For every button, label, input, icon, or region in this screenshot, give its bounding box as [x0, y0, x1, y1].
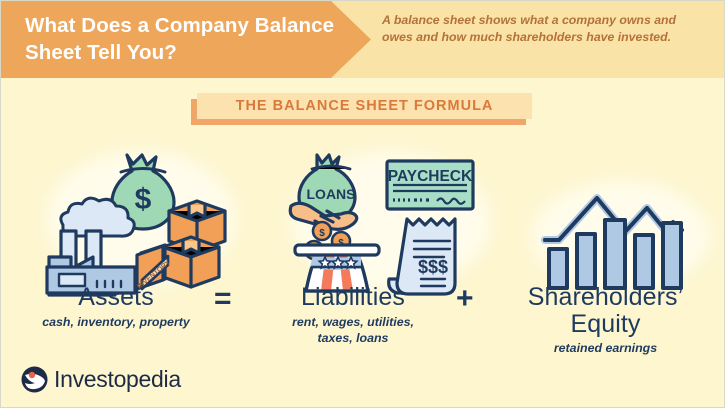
liabilities-title: Liabilities — [253, 284, 453, 311]
liabilities-icon-group: LOANS PAYCHECK $ $ — [281, 143, 496, 298]
operator-equals: = — [214, 282, 232, 316]
formula-banner-label: THE BALANCE SHEET FORMULA — [236, 98, 494, 114]
header-subtitle: A balance sheet shows what a company own… — [382, 12, 707, 47]
coin-dollar-1: $ — [319, 228, 325, 239]
equity-caption: retained earnings — [498, 340, 713, 356]
formula-banner: THE BALANCE SHEET FORMULA — [197, 93, 532, 119]
assets-icon-group: $ — [29, 143, 234, 293]
assets-title: Assets — [11, 284, 221, 311]
page-title: What Does a Company Balance Sheet Tell Y… — [25, 12, 345, 67]
investopedia-logo[interactable]: Investopedia — [21, 366, 181, 393]
equity-title: Shareholders’ Equity — [498, 284, 713, 337]
assets-caption: cash, inventory, property — [11, 314, 221, 330]
equity-icon-group — [537, 187, 707, 292]
investopedia-mark-icon — [21, 366, 48, 393]
loans-bag-label: LOANS — [307, 186, 356, 202]
infographic-canvas: What Does a Company Balance Sheet Tell Y… — [0, 0, 725, 408]
column-equity: Shareholders’ Equity retained earnings — [498, 284, 713, 356]
column-assets: Assets cash, inventory, property — [11, 284, 221, 330]
operator-plus: + — [456, 282, 474, 316]
bar-chart-growth-icon — [545, 198, 682, 288]
money-bag-dollar-symbol: $ — [135, 183, 152, 216]
liabilities-caption: rent, wages, utilities, taxes, loans — [253, 314, 453, 346]
investopedia-wordmark: Investopedia — [54, 366, 181, 393]
hat-stars-icon — [319, 257, 357, 268]
receipt-amount-label: $$$ — [418, 257, 448, 277]
column-liabilities: Liabilities rent, wages, utilities, taxe… — [253, 284, 453, 346]
paycheck-label: PAYCHECK — [388, 168, 473, 185]
